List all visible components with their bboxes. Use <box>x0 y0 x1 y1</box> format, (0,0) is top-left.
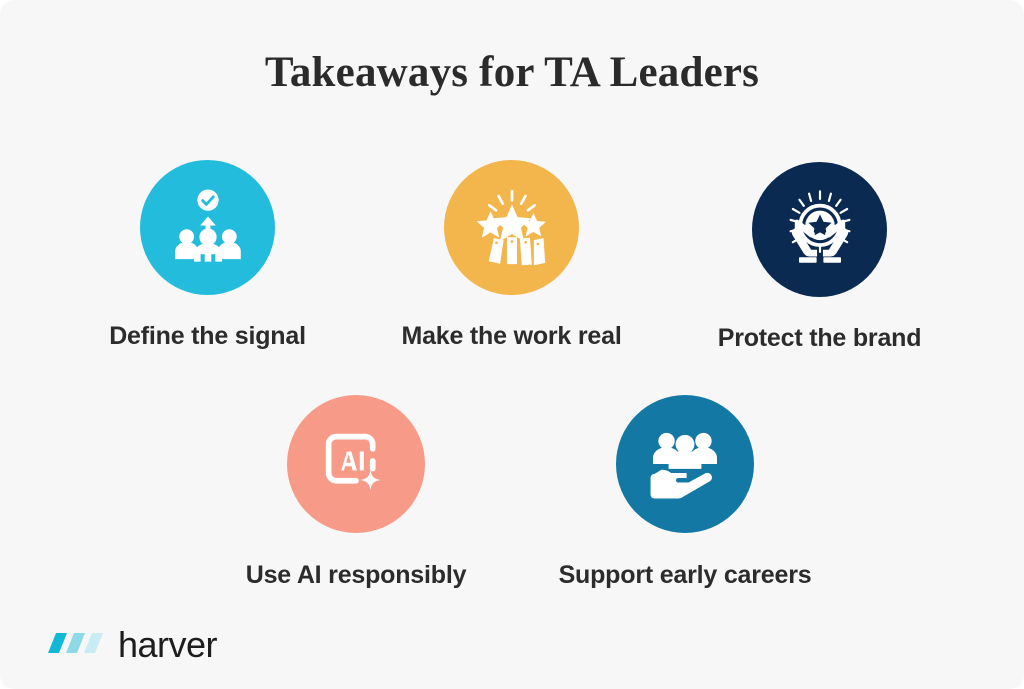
takeaway-label: Make the work real <box>401 322 621 351</box>
takeaway-item-protect-the-brand: Protect the brand <box>752 162 887 353</box>
takeaway-item-define-the-signal: Define the signal <box>140 160 275 351</box>
takeaway-item-use-ai-responsibly: Use AI responsibly <box>287 395 425 590</box>
people-arrow-check-icon <box>140 160 275 295</box>
takeaway-item-support-early-careers: Support early careers <box>616 395 754 590</box>
takeaway-label: Use AI responsibly <box>246 561 467 590</box>
infographic-canvas: Takeaways for TA Leaders <box>0 0 1024 689</box>
hands-star-badge-icon <box>752 162 887 297</box>
stars-tags-icon <box>444 160 579 295</box>
page-title: Takeaways for TA Leaders <box>0 48 1024 97</box>
takeaway-label: Protect the brand <box>718 324 922 353</box>
takeaway-label: Support early careers <box>559 561 812 590</box>
takeaway-label: Define the signal <box>109 322 306 351</box>
ai-sparkle-icon <box>287 395 425 533</box>
harver-chevrons-icon <box>48 630 104 661</box>
harver-logo[interactable]: harver <box>48 627 217 663</box>
harver-wordmark: harver <box>118 627 217 663</box>
people-on-hand-icon <box>616 395 754 533</box>
takeaway-item-make-the-work-real: Make the work real <box>444 160 579 351</box>
